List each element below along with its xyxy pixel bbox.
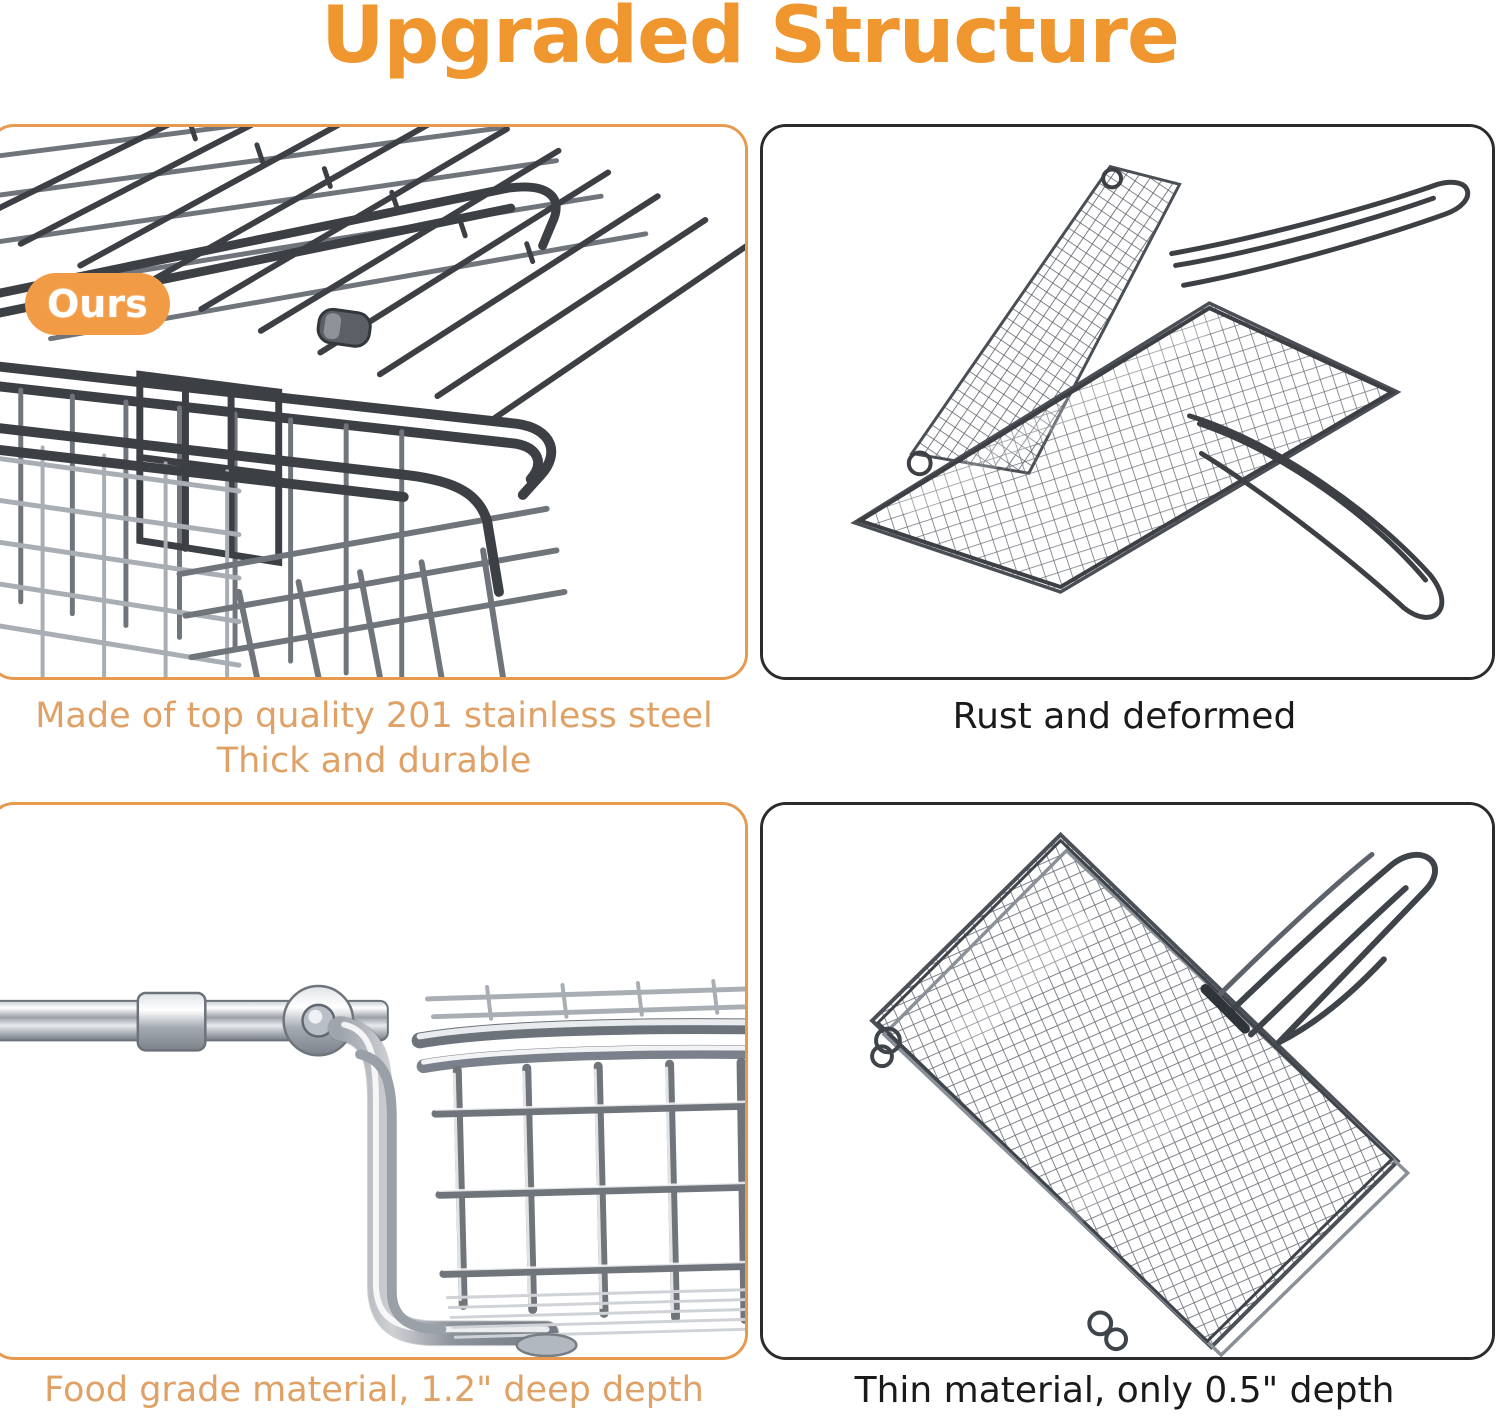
panel-bottom-right-others: Others: [760, 802, 1495, 1360]
caption-top-left-line1: Made of top quality 201 stainless steel: [0, 694, 748, 739]
caption-top-right: Rust and deformed: [752, 694, 1497, 740]
caption-top-left: Made of top quality 201 stainless steel …: [0, 694, 748, 784]
caption-bottom-left: Food grade material, 1.2" deep depth: [0, 1368, 748, 1413]
product-image-ours-basket-closeup: [0, 127, 745, 677]
badge-ours-top-left: Ours: [25, 273, 170, 335]
caption-top-left-line2: Thick and durable: [0, 739, 748, 784]
caption-bottom-left-line1: Food grade material, 1.2" deep depth: [0, 1368, 748, 1413]
product-image-ours-detachable-handle: [0, 805, 745, 1357]
caption-bottom-right-line1: Thin material, only 0.5" depth: [752, 1368, 1497, 1414]
product-image-others-open-mesh-basket: [763, 127, 1492, 677]
panel-bottom-left-ours: Ours: [0, 802, 748, 1360]
panel-top-right-others: Others: [760, 124, 1495, 680]
caption-top-right-line1: Rust and deformed: [752, 694, 1497, 740]
panel-top-left-ours: Ours: [0, 124, 748, 680]
caption-bottom-right: Thin material, only 0.5" depth: [752, 1368, 1497, 1414]
infographic-root: Upgraded Structure: [0, 0, 1500, 1423]
product-image-others-flat-mesh-basket: [763, 805, 1492, 1357]
page-title: Upgraded Structure: [0, 0, 1500, 80]
